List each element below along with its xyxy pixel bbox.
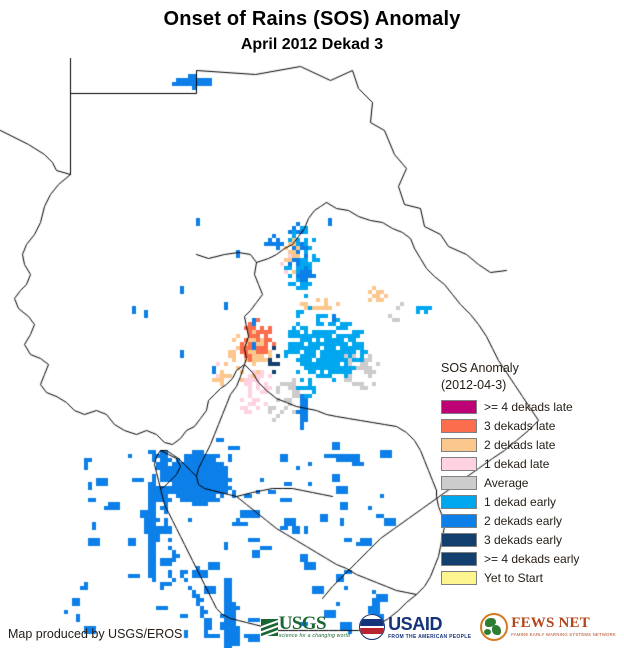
usgs-logo: USGS science for a changing world (261, 612, 350, 642)
legend-label: 1 dekad early (484, 495, 556, 509)
legend-swatch (441, 514, 477, 528)
usgs-wave-icon (261, 619, 278, 636)
legend-swatch (441, 571, 477, 585)
legend-label: Average (484, 476, 528, 490)
map-figure: Onset of Rains (SOS) Anomaly April 2012 … (0, 0, 624, 648)
title-block: Onset of Rains (SOS) Anomaly April 2012 … (0, 6, 624, 56)
page-subtitle: April 2012 Dekad 3 (0, 34, 624, 56)
legend-swatch (441, 438, 477, 452)
legend-swatch (441, 533, 477, 547)
fews-net-tagline: FAMINE EARLY WARNING SYSTEMS NETWORK (511, 633, 616, 637)
legend-label: >= 4 dekads late (484, 400, 573, 414)
legend-label: 1 dekad late (484, 457, 549, 471)
usaid-seal-icon (359, 614, 385, 640)
legend-label: 2 dekads late (484, 438, 555, 452)
map-credit: Map produced by USGS/EROS (8, 627, 182, 641)
legend-label: >= 4 dekads early (484, 552, 579, 566)
legend-row: 1 dekad early (441, 492, 621, 511)
usgs-tagline: science for a changing world (279, 634, 350, 639)
legend-swatch (441, 419, 477, 433)
legend-title: SOS Anomaly (441, 360, 621, 377)
usaid-tagline: FROM THE AMERICAN PEOPLE (388, 635, 471, 640)
globe-icon (480, 613, 508, 641)
usgs-wordmark: USGS (279, 614, 350, 633)
legend-row: 2 dekads late (441, 435, 621, 454)
legend-subtitle: (2012-04-3) (441, 377, 621, 394)
logo-bar: USGS science for a changing world USAID … (261, 612, 616, 642)
usaid-wordmark: USAID (388, 615, 471, 633)
legend-row: >= 4 dekads early (441, 549, 621, 568)
legend-label: 2 dekads early (484, 514, 562, 528)
fews-net-logo: FEWS NET FAMINE EARLY WARNING SYSTEMS NE… (480, 612, 616, 642)
legend-label: 3 dekads early (484, 533, 562, 547)
usaid-logo: USAID FROM THE AMERICAN PEOPLE (359, 612, 471, 642)
legend-row: 1 dekad late (441, 454, 621, 473)
legend-swatch (441, 457, 477, 471)
legend-row: 3 dekads early (441, 530, 621, 549)
legend-swatch (441, 400, 477, 414)
legend-swatch (441, 552, 477, 566)
legend-rows: >= 4 dekads late3 dekads late2 dekads la… (441, 397, 621, 587)
fews-net-wordmark: FEWS NET (511, 616, 616, 631)
legend-label: 3 dekads late (484, 419, 555, 433)
legend-label: Yet to Start (484, 571, 543, 585)
page-title: Onset of Rains (SOS) Anomaly (0, 6, 624, 32)
legend-swatch (441, 476, 477, 490)
legend-panel: SOS Anomaly (2012-04-3) >= 4 dekads late… (441, 360, 621, 587)
legend-row: 3 dekads late (441, 416, 621, 435)
legend-row: 2 dekads early (441, 511, 621, 530)
legend-row: >= 4 dekads late (441, 397, 621, 416)
legend-row: Average (441, 473, 621, 492)
legend-row: Yet to Start (441, 568, 621, 587)
legend-swatch (441, 495, 477, 509)
